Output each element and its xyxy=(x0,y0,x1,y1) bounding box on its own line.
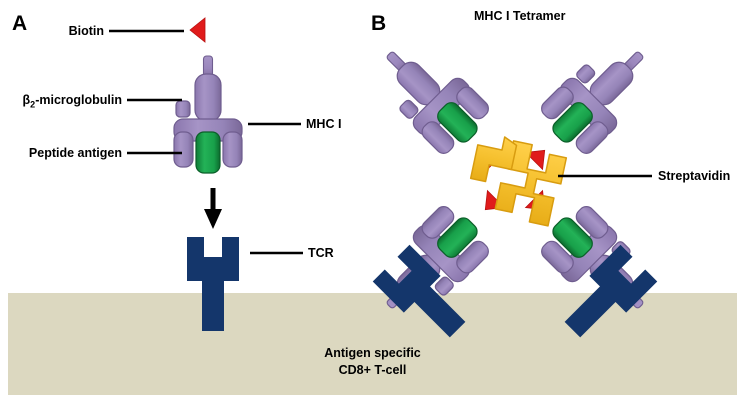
panel-letter-b: B xyxy=(371,13,386,34)
figure-root: Antigen specific CD8+ T-cell xyxy=(0,0,745,402)
diagram-artwork xyxy=(0,0,745,402)
label-peptide-antigen: Peptide antigen xyxy=(0,146,122,160)
panel-a-mhc-monomer xyxy=(174,18,242,173)
label-b2-microglobulin: β2-microglobulin xyxy=(0,93,122,110)
label-streptavidin: Streptavidin xyxy=(658,169,730,183)
label-biotin: Biotin xyxy=(0,24,104,38)
label-mhc-i: MHC I xyxy=(306,117,341,131)
mhc-i-monomer xyxy=(174,56,242,173)
streptavidin-core xyxy=(471,132,568,227)
tcr-receptor-a xyxy=(187,237,239,331)
label-b2m-suffix: -microglobulin xyxy=(35,93,122,107)
tetramer-arm-lower-left xyxy=(365,30,496,161)
down-arrow xyxy=(204,188,222,229)
tetramer-arm-lower-right xyxy=(534,30,665,161)
panel-b-heading: MHC I Tetramer xyxy=(474,9,565,23)
biotin-triangle xyxy=(190,18,205,42)
label-tcr: TCR xyxy=(308,246,334,260)
